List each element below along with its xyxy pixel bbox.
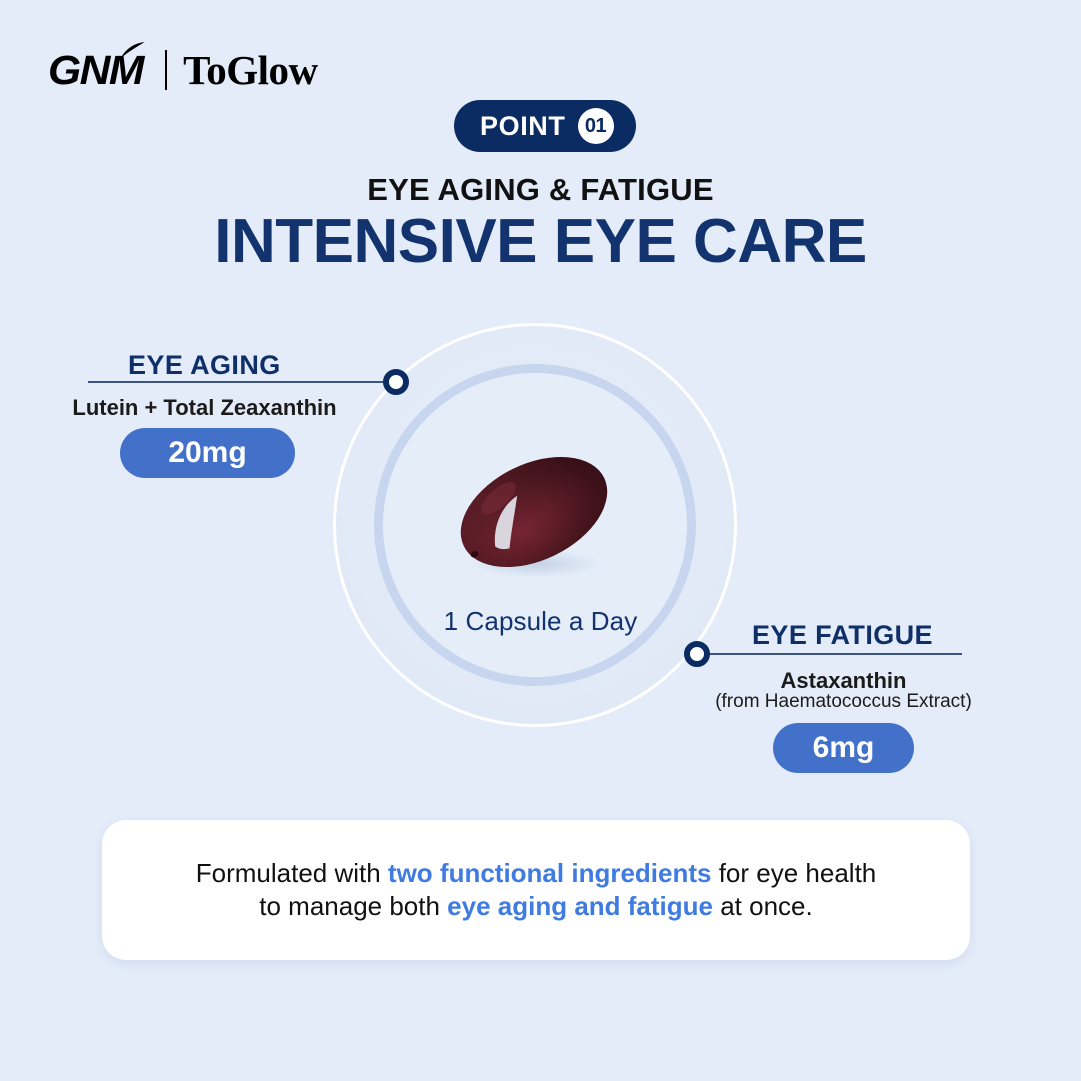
brand-gnm-text: GNM [48,47,143,93]
callout-line-left [88,381,394,383]
callout-title-eye-aging: EYE AGING [128,350,281,381]
callout-ingredient-eye-aging: Lutein + Total Zeaxanthin [72,395,337,421]
softgel-capsule-icon [444,440,624,590]
brand-gnm-wordmark: GNM [48,50,143,91]
brand-divider [165,50,167,90]
callout-title-eye-fatigue: EYE FATIGUE [752,620,933,651]
promo-page: GNM ToGlow POINT 01 EYE AGING & FATIGUE … [0,0,1081,1081]
summary-line-1-part-1: Formulated with [196,858,388,888]
summary-line-1-part-2: for eye health [711,858,876,888]
summary-line-1-highlight: two functional ingredients [388,858,712,888]
connector-dot-icon-left [383,369,409,395]
summary-line-2: to manage both eye aging and fatigue at … [259,890,812,923]
summary-line-2-highlight: eye aging and fatigue [447,891,713,921]
summary-line-1: Formulated with two functional ingredien… [196,857,877,890]
point-badge-label: POINT [480,111,566,142]
dose-badge-eye-aging: 20mg [120,428,295,478]
summary-card: Formulated with two functional ingredien… [102,820,970,960]
callout-ingredient-source-eye-fatigue: (from Haematococcus Extract) [700,691,987,713]
dose-badge-eye-fatigue: 6mg [773,723,914,773]
point-badge-number: 01 [578,108,614,144]
summary-line-2-part-1: to manage both [259,891,447,921]
brand-logo: GNM ToGlow [48,46,318,94]
brand-toglow-text: ToGlow [183,50,317,91]
connector-dot-icon-right [684,641,710,667]
page-title: INTENSIVE EYE CARE [0,206,1081,277]
page-subheading: EYE AGING & FATIGUE [0,172,1081,208]
callout-line-right [700,653,962,655]
point-badge: POINT 01 [454,100,636,152]
summary-line-2-part-2: at once. [713,891,813,921]
